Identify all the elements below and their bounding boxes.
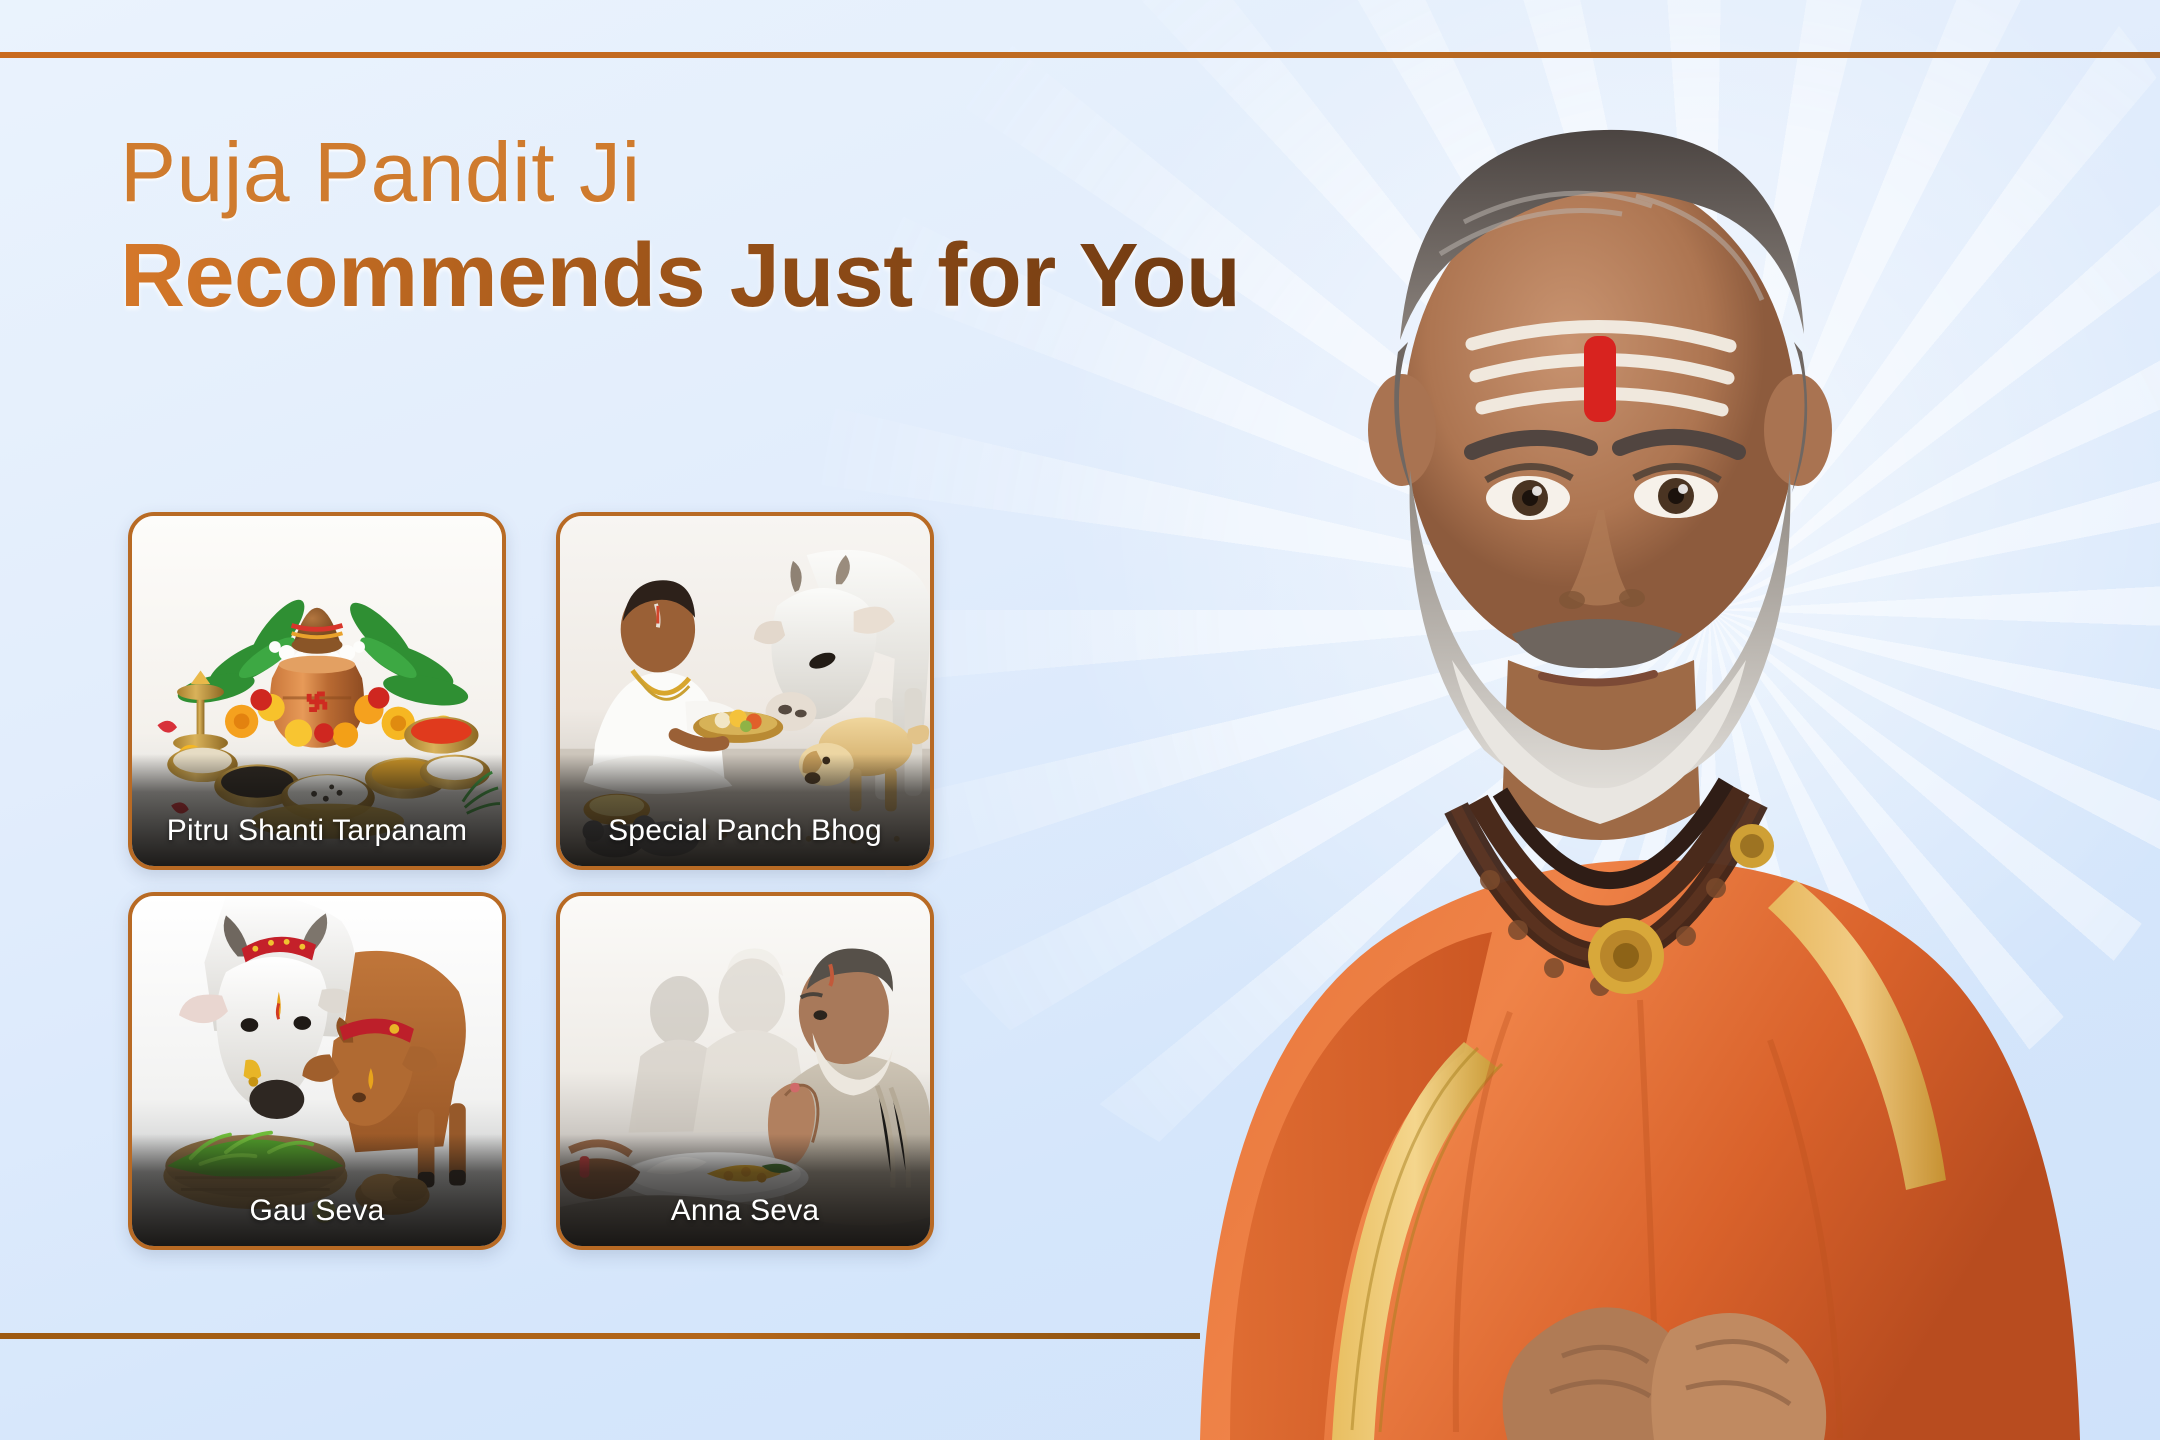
card-caption-overlay: Special Panch Bhog [560, 754, 930, 866]
promotional-banner: Puja Pandit Ji Recommends Just for You [0, 0, 2160, 1440]
seva-card-label: Gau Seva [249, 1194, 384, 1228]
seva-card-label: Special Panch Bhog [608, 814, 882, 848]
headline-line-2: Recommends Just for You [120, 227, 1240, 326]
card-caption-overlay: Gau Seva [132, 1134, 502, 1246]
recommended-seva-card-grid: Pitru Shanti Tarpanam [128, 512, 934, 1250]
top-divider-rule [0, 52, 2160, 58]
seva-card-anna-seva[interactable]: Anna Seva [556, 892, 934, 1250]
card-caption-overlay: Anna Seva [560, 1134, 930, 1246]
seva-card-label: Pitru Shanti Tarpanam [167, 814, 467, 848]
pandit-portrait-image [1080, 0, 2160, 1440]
seva-card-special-panch-bhog[interactable]: Special Panch Bhog [556, 512, 934, 870]
bottom-divider-rule [0, 1333, 1200, 1339]
headline-block: Puja Pandit Ji Recommends Just for You [120, 128, 1240, 326]
headline-line-1: Puja Pandit Ji [120, 128, 1240, 217]
seva-card-gau-seva[interactable]: Gau Seva [128, 892, 506, 1250]
seva-card-label: Anna Seva [671, 1194, 820, 1228]
card-caption-overlay: Pitru Shanti Tarpanam [132, 754, 502, 866]
seva-card-pitru-shanti-tarpanam[interactable]: Pitru Shanti Tarpanam [128, 512, 506, 870]
